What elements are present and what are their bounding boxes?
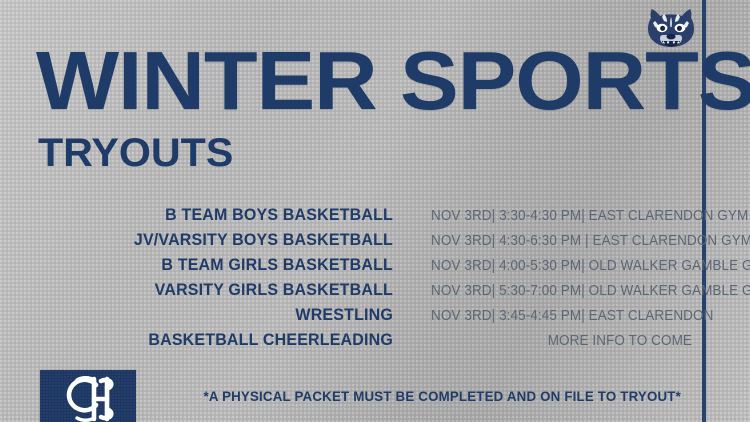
sport-name: BASKETBALL CHEERLEADING — [78, 331, 393, 348]
page-title: WINTER SPORTS — [36, 42, 750, 120]
ec-monogram-icon — [40, 370, 136, 422]
list-item: BASKETBALL CHEERLEADING MORE INFO TO COM… — [0, 331, 750, 356]
sport-details: NOV 3RD| 3:30-4:30 PM| EAST CLARENDON GY… — [423, 208, 692, 223]
sport-details: NOV 3RD| 5:30-7:00 PM| OLD WALKER GAMBLE… — [423, 283, 692, 298]
sport-details: NOV 3RD| 4:30-6:30 PM | EAST CLARENDON G… — [423, 233, 692, 248]
sport-name: JV/VARSITY BOYS BASKETBALL — [78, 231, 393, 248]
sport-name: VARSITY GIRLS BASKETBALL — [78, 281, 393, 298]
list-item: B TEAM BOYS BASKETBALL NOV 3RD| 3:30-4:3… — [0, 206, 750, 231]
sport-details: NOV 3RD| 4:00-5:30 PM| OLD WALKER GAMBLE… — [423, 258, 692, 273]
sport-details: NOV 3RD| 3:45-4:45 PM| EAST CLARENDON — [423, 308, 692, 323]
winter-sports-tryouts-poster: WINTER SPORTS TRYOUTS B TEAM BOYS BASKET… — [0, 0, 750, 422]
tryout-schedule-list: B TEAM BOYS BASKETBALL NOV 3RD| 3:30-4:3… — [0, 206, 750, 356]
list-item: JV/VARSITY BOYS BASKETBALL NOV 3RD| 4:30… — [0, 231, 750, 256]
sport-name: B TEAM BOYS BASKETBALL — [78, 206, 393, 223]
sport-name: WRESTLING — [78, 306, 393, 323]
list-item: B TEAM GIRLS BASKETBALL NOV 3RD| 4:00-5:… — [0, 256, 750, 281]
page-subtitle: TRYOUTS — [38, 133, 233, 173]
sport-details: MORE INFO TO COME — [423, 333, 692, 348]
sport-name: B TEAM GIRLS BASKETBALL — [78, 256, 393, 273]
list-item: WRESTLING NOV 3RD| 3:45-4:45 PM| EAST CL… — [0, 306, 750, 331]
list-item: VARSITY GIRLS BASKETBALL NOV 3RD| 5:30-7… — [0, 281, 750, 306]
